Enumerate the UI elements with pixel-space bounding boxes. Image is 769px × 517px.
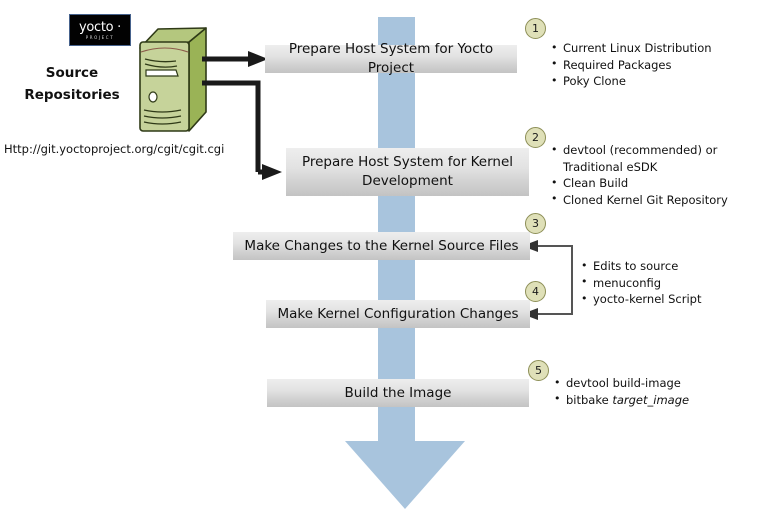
source-label-line1: Source [8, 62, 136, 84]
step-4-number: 4 [532, 285, 539, 298]
bullet-item: Edits to source [580, 258, 702, 275]
server-icon [140, 28, 206, 131]
step-2-bullet-list: devtool (recommended) or Traditional eSD… [550, 142, 728, 208]
bitbake-target-argument: target_image [612, 393, 689, 407]
source-repositories-label: Source Repositories [8, 62, 136, 106]
bullet-item: Required Packages [550, 57, 712, 74]
step-5-number: 5 [535, 364, 542, 377]
step-2-box[interactable]: Prepare Host System for Kernel Developme… [286, 148, 529, 196]
step-5-box-label: Build the Image [345, 384, 452, 403]
step-2-number: 2 [532, 131, 539, 144]
step-3-box[interactable]: Make Changes to the Kernel Source Files [233, 232, 530, 260]
bullet-item: menuconfig [580, 275, 702, 292]
connector-server-to-step1 [202, 51, 268, 67]
bullet-item: devtool (recommended) or [550, 142, 728, 159]
main-flow-arrow [345, 17, 465, 509]
logo-subtitle: PROJECT [86, 36, 114, 40]
step-2-box-label-line1: Prepare Host System for Kernel [302, 153, 513, 172]
bullet-item: Clean Build [550, 175, 728, 192]
step-1-box-label: Prepare Host System for Yocto Project [265, 40, 517, 78]
bullet-item: Cloned Kernel Git Repository [550, 192, 728, 209]
bullet-item-bitbake: bitbake target_image [553, 392, 689, 409]
step-1-box[interactable]: Prepare Host System for Yocto Project [265, 45, 517, 73]
step-3-box-label: Make Changes to the Kernel Source Files [244, 237, 518, 256]
step-1-number: 1 [532, 22, 539, 35]
bitbake-command: bitbake [566, 393, 612, 407]
step-4-box[interactable]: Make Kernel Configuration Changes [266, 300, 530, 328]
source-repository-url: Http://git.yoctoproject.org/cgit/cgit.cg… [4, 142, 224, 156]
bullet-item-continuation: Traditional eSDK [550, 159, 728, 176]
step-1-number-badge: 1 [525, 18, 546, 39]
logo-wordmark: yocto · [79, 21, 121, 34]
step-3-number-badge: 3 [525, 213, 546, 234]
yocto-project-logo: yocto · PROJECT [69, 14, 131, 46]
bullet-item: devtool build-image [553, 375, 689, 392]
step-3-number: 3 [532, 217, 539, 230]
step-5-bullet-list: devtool build-image bitbake target_image [553, 375, 689, 408]
step-5-number-badge: 5 [528, 360, 549, 381]
step-2-box-label-line2: Development [362, 172, 453, 191]
step-4-box-label: Make Kernel Configuration Changes [277, 305, 518, 324]
step-5-box[interactable]: Build the Image [267, 379, 529, 407]
steps-3-4-bullet-list: Edits to source menuconfig yocto-kernel … [580, 258, 702, 308]
connector-server-to-step2 [202, 83, 282, 180]
step-4-number-badge: 4 [525, 281, 546, 302]
step-1-bullet-list: Current Linux Distribution Required Pack… [550, 40, 712, 90]
bullet-item: Current Linux Distribution [550, 40, 712, 57]
source-label-line2: Repositories [8, 84, 136, 106]
bullet-item: yocto-kernel Script [580, 291, 702, 308]
bullet-item: Poky Clone [550, 73, 712, 90]
step-2-number-badge: 2 [525, 127, 546, 148]
